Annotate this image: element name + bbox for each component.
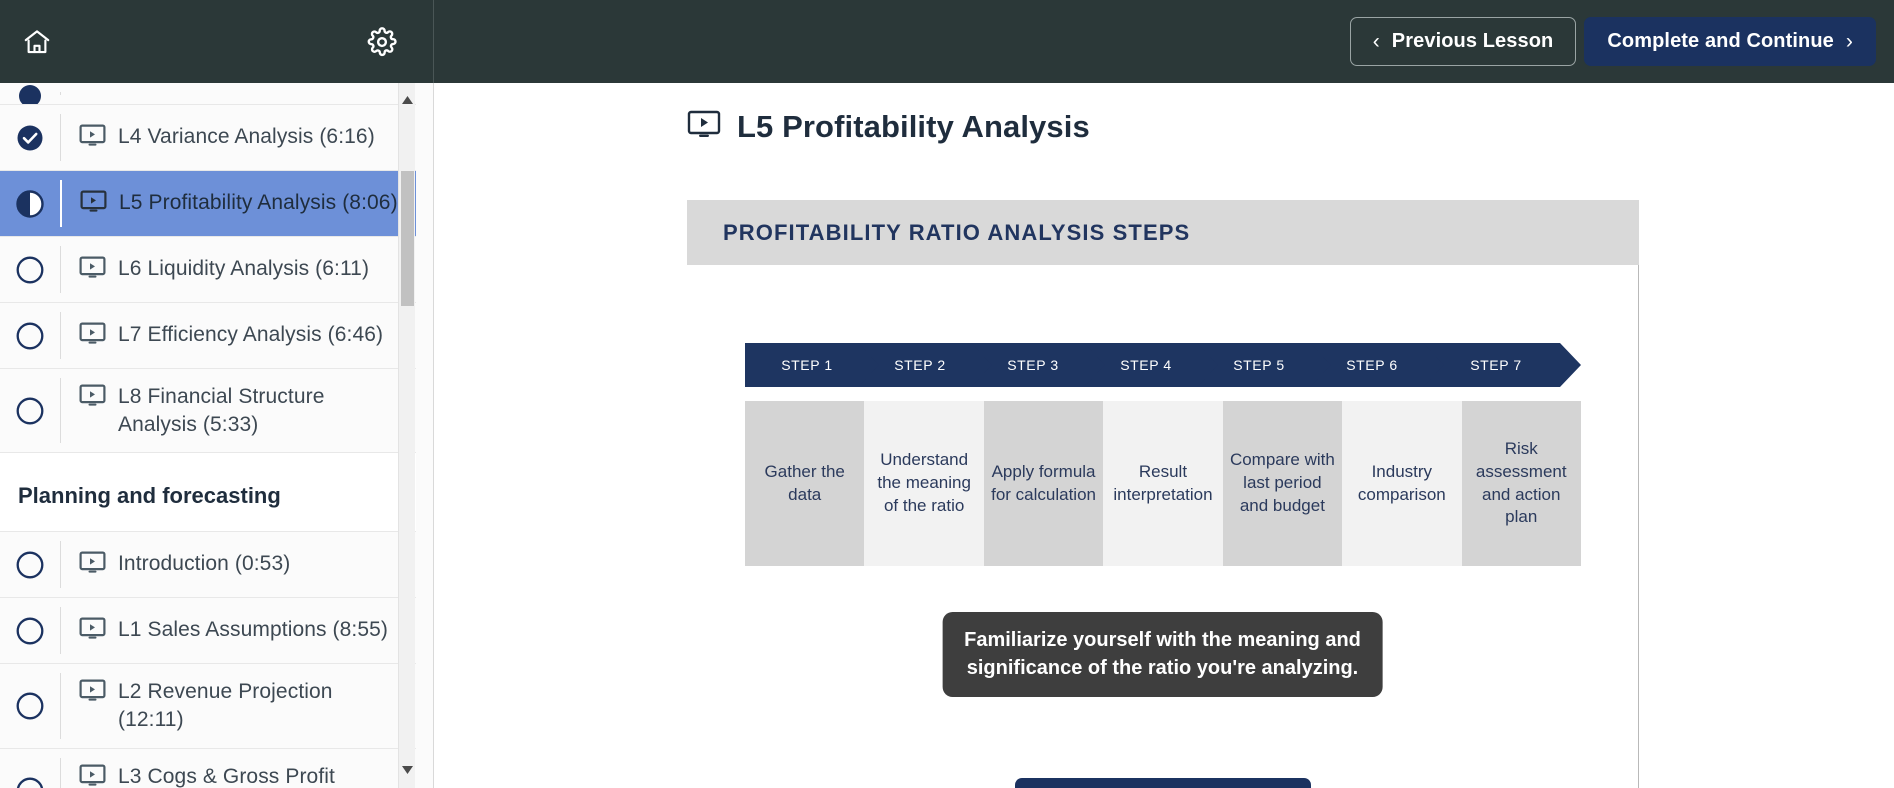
slide-banner-title: PROFITABILITY RATIO ANALYSIS STEPS [723,220,1190,246]
sidebar-item-label: L5 Profitability Analysis (8:06) [119,189,398,217]
sidebar-item-introduction[interactable]: Introduction (0:53) [0,532,416,598]
list-item-body: L8 Financial Structure Analysis (5:33) [61,369,416,452]
process-diagram: STEP 1 STEP 2 STEP 3 STEP 4 STEP 5 [745,343,1581,387]
status-incomplete-icon [0,616,60,646]
video-icon [687,110,721,144]
top-bar-left-group [0,0,434,83]
chevron-step-7: STEP 7 [1423,343,1581,387]
chevron-step-4-label: STEP 4 [1120,357,1172,373]
list-item-body: Introduction (0:53) [61,536,416,593]
slide-caption: Familiarize yourself with the meaning an… [942,612,1383,697]
sidebar-item-label: Introduction (0:53) [118,550,290,578]
step-box-5: Compare with last period and budget [1223,401,1342,566]
sidebar-item-l3-cogs-gross-profit-planning[interactable]: L3 Cogs & Gross Profit Planning [0,749,416,788]
sidebar-item-label: L6 Liquidity Analysis (6:11) [118,255,369,283]
list-item[interactable] [0,83,416,105]
list-item-body: L2 Revenue Projection (12:11) [61,664,416,747]
step-box-6: Industry comparison [1342,401,1461,566]
sidebar-item-label: L8 Financial Structure Analysis (5:33) [118,383,400,438]
lesson-nav-buttons: ‹ Previous Lesson Complete and Continue … [1350,17,1894,66]
chevron-step-2-label: STEP 2 [894,357,946,373]
home-icon[interactable] [14,19,60,65]
step-box-1: Gather the data [745,401,864,566]
chevron-step-1-label: STEP 1 [781,357,833,373]
sidebar-item-label: L1 Sales Assumptions (8:55) [118,616,388,644]
sidebar-item-l4-variance-analysis[interactable]: L4 Variance Analysis (6:16) [0,105,416,171]
lesson-content: L5 Profitability Analysis PROFITABILITY … [434,83,1894,788]
list-item-body: L6 Liquidity Analysis (6:11) [61,241,416,298]
video-icon [80,190,107,218]
step-box-3: Apply formula for calculation [984,401,1103,566]
sidebar-item-label: L7 Efficiency Analysis (6:46) [118,321,383,349]
chevron-step-6-label: STEP 6 [1346,357,1398,373]
list-item-body: L5 Profitability Analysis (8:06) [62,175,416,232]
sidebar-item-l5-profitability-analysis[interactable]: L5 Profitability Analysis (8:06) [0,171,416,237]
status-incomplete-icon [0,776,60,788]
slide-canvas: PROFITABILITY RATIO ANALYSIS STEPS STEP … [687,200,1639,788]
list-item-body: L4 Variance Analysis (6:16) [61,109,416,166]
complete-and-continue-button[interactable]: Complete and Continue › [1584,17,1876,66]
video-icon [79,124,106,152]
top-bar: ‹ Previous Lesson Complete and Continue … [0,0,1894,83]
chevron-step-row: STEP 1 STEP 2 STEP 3 STEP 4 STEP 5 [745,343,1581,387]
previous-lesson-label: Previous Lesson [1392,30,1554,53]
sidebar-item-l2-revenue-projection[interactable]: L2 Revenue Projection (12:11) [0,664,416,748]
sidebar-item-label: L4 Variance Analysis (6:16) [118,123,375,151]
page-title: L5 Profitability Analysis [737,109,1090,145]
list-item-body: L1 Sales Assumptions (8:55) [61,602,416,659]
video-icon [79,551,106,579]
video-icon [79,83,105,90]
chevron-step-3-label: STEP 3 [1007,357,1059,373]
chevron-left-icon: ‹ [1373,31,1380,52]
step-box-4: Result interpretation [1103,401,1222,566]
video-icon [79,764,106,788]
step-box-2: Understand the meaning of the ratio [864,401,983,566]
lesson-sidebar: L4 Variance Analysis (6:16) [0,83,434,788]
sidebar-item-l7-efficiency-analysis[interactable]: L7 Efficiency Analysis (6:46) [0,303,416,369]
video-icon [79,617,106,645]
slide-bottom-element [1015,778,1311,788]
sidebar-scrollbar[interactable] [398,83,415,788]
video-icon [79,256,106,284]
chevron-step-7-label: STEP 7 [1470,357,1522,373]
step-box-7: Risk assessment and action plan [1462,401,1581,566]
list-item-body [61,83,416,104]
lesson-list: L4 Variance Analysis (6:16) [0,83,416,788]
slide-banner: PROFITABILITY RATIO ANALYSIS STEPS [687,200,1639,265]
step-description-row: Gather the data Understand the meaning o… [745,401,1581,566]
status-icon-partial [0,83,60,104]
previous-lesson-button[interactable]: ‹ Previous Lesson [1350,17,1577,66]
video-icon [79,322,106,350]
status-incomplete-icon [0,396,60,426]
sidebar-item-label: L3 Cogs & Gross Profit Planning [118,763,400,788]
sidebar-item-label: L2 Revenue Projection (12:11) [118,678,400,733]
chevron-step-1: STEP 1 [745,343,881,387]
chevron-step-5-label: STEP 5 [1233,357,1285,373]
status-incomplete-icon [0,550,60,580]
complete-and-continue-label: Complete and Continue [1607,30,1834,53]
video-icon [79,679,106,707]
status-incomplete-icon [0,691,60,721]
course-player: ‹ Previous Lesson Complete and Continue … [0,0,1894,788]
page-title-row: L5 Profitability Analysis [434,83,1894,145]
sidebar-item-l6-liquidity-analysis[interactable]: L6 Liquidity Analysis (6:11) [0,237,416,303]
list-item-body: L3 Cogs & Gross Profit Planning [61,749,416,788]
video-icon [79,384,106,412]
status-complete-icon [0,123,60,153]
gear-icon[interactable] [359,19,405,65]
list-item-body: L7 Efficiency Analysis (6:46) [61,307,416,364]
scroll-down-arrow-icon[interactable] [399,761,416,778]
sidebar-item-l8-financial-structure-analysis[interactable]: L8 Financial Structure Analysis (5:33) [0,369,416,453]
status-incomplete-icon [0,321,60,351]
status-in-progress-icon [0,189,60,219]
scrollbar-thumb[interactable] [401,171,414,306]
status-incomplete-icon [0,255,60,285]
sidebar-section-heading: Planning and forecasting [0,453,416,532]
scroll-up-arrow-icon[interactable] [399,91,416,108]
sidebar-item-l1-sales-assumptions[interactable]: L1 Sales Assumptions (8:55) [0,598,416,664]
chevron-right-icon: › [1846,31,1853,52]
